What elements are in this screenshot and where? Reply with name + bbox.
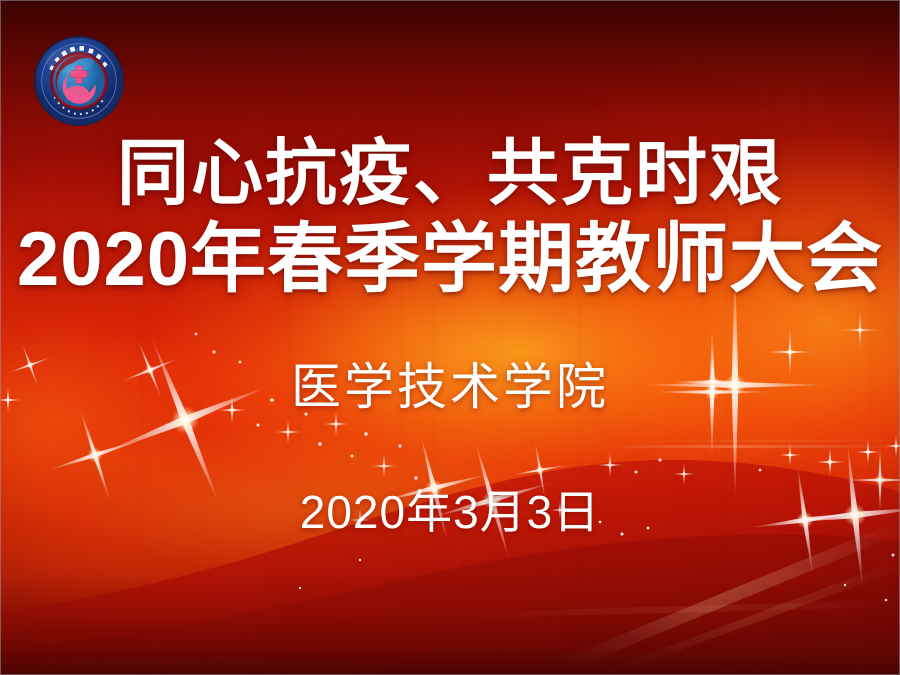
slide-title-line-1: 同心抗疫、共克时艰 (0, 138, 900, 210)
slide-subtitle-organization: 医学技术学院 (0, 362, 900, 412)
slide-date: 2020年3月3日 (0, 489, 900, 535)
slide-text-block: 同心抗疫、共克时艰 2020年春季学期教师大会 医学技术学院 2020年3月3日 (0, 0, 900, 675)
presentation-title-slide: 同心抗疫、共克时艰 2020年春季学期教师大会 医学技术学院 2020年3月3日 (0, 0, 900, 675)
slide-title-line-2: 2020年春季学期教师大会 (0, 222, 900, 298)
